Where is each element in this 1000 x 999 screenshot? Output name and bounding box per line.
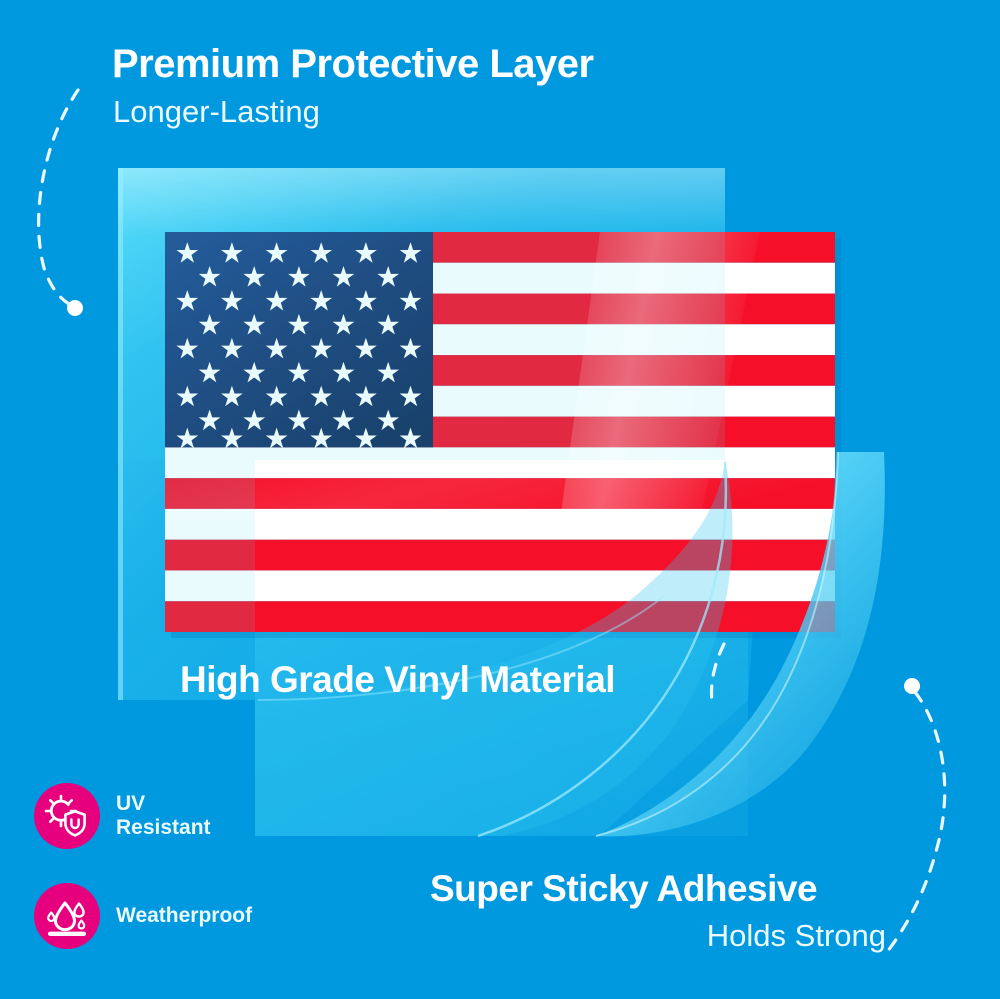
feature-label-weatherproof: Weatherproof bbox=[116, 904, 252, 928]
water-droplets-icon bbox=[44, 893, 90, 939]
badge-circle-weatherproof bbox=[34, 883, 100, 949]
product-artwork bbox=[0, 0, 1000, 999]
leader-dot-premium bbox=[67, 300, 83, 316]
product-infographic: Premium Protective Layer Longer-Lasting … bbox=[0, 0, 1000, 999]
feature-badge-weatherproof: Weatherproof bbox=[34, 883, 252, 949]
callout-title-premium-protective-layer: Premium Protective Layer bbox=[112, 44, 594, 85]
callout-subtitle-longer-lasting: Longer-Lasting bbox=[113, 96, 320, 129]
leader-line-premium bbox=[39, 90, 78, 307]
sun-shield-icon bbox=[44, 793, 90, 839]
callout-subtitle-holds-strong: Holds Strong bbox=[430, 920, 886, 953]
leader-dot-adhesive bbox=[904, 678, 920, 694]
callout-title-super-sticky-adhesive: Super Sticky Adhesive bbox=[430, 870, 817, 908]
badge-circle-uv bbox=[34, 783, 100, 849]
feature-label-uv-resistant: UV Resistant bbox=[116, 792, 211, 839]
feature-badge-uv-resistant: UV Resistant bbox=[34, 783, 211, 849]
callout-title-high-grade-vinyl: High Grade Vinyl Material bbox=[180, 661, 615, 699]
american-flag-decal bbox=[165, 232, 841, 638]
leader-line-adhesive bbox=[884, 692, 945, 956]
